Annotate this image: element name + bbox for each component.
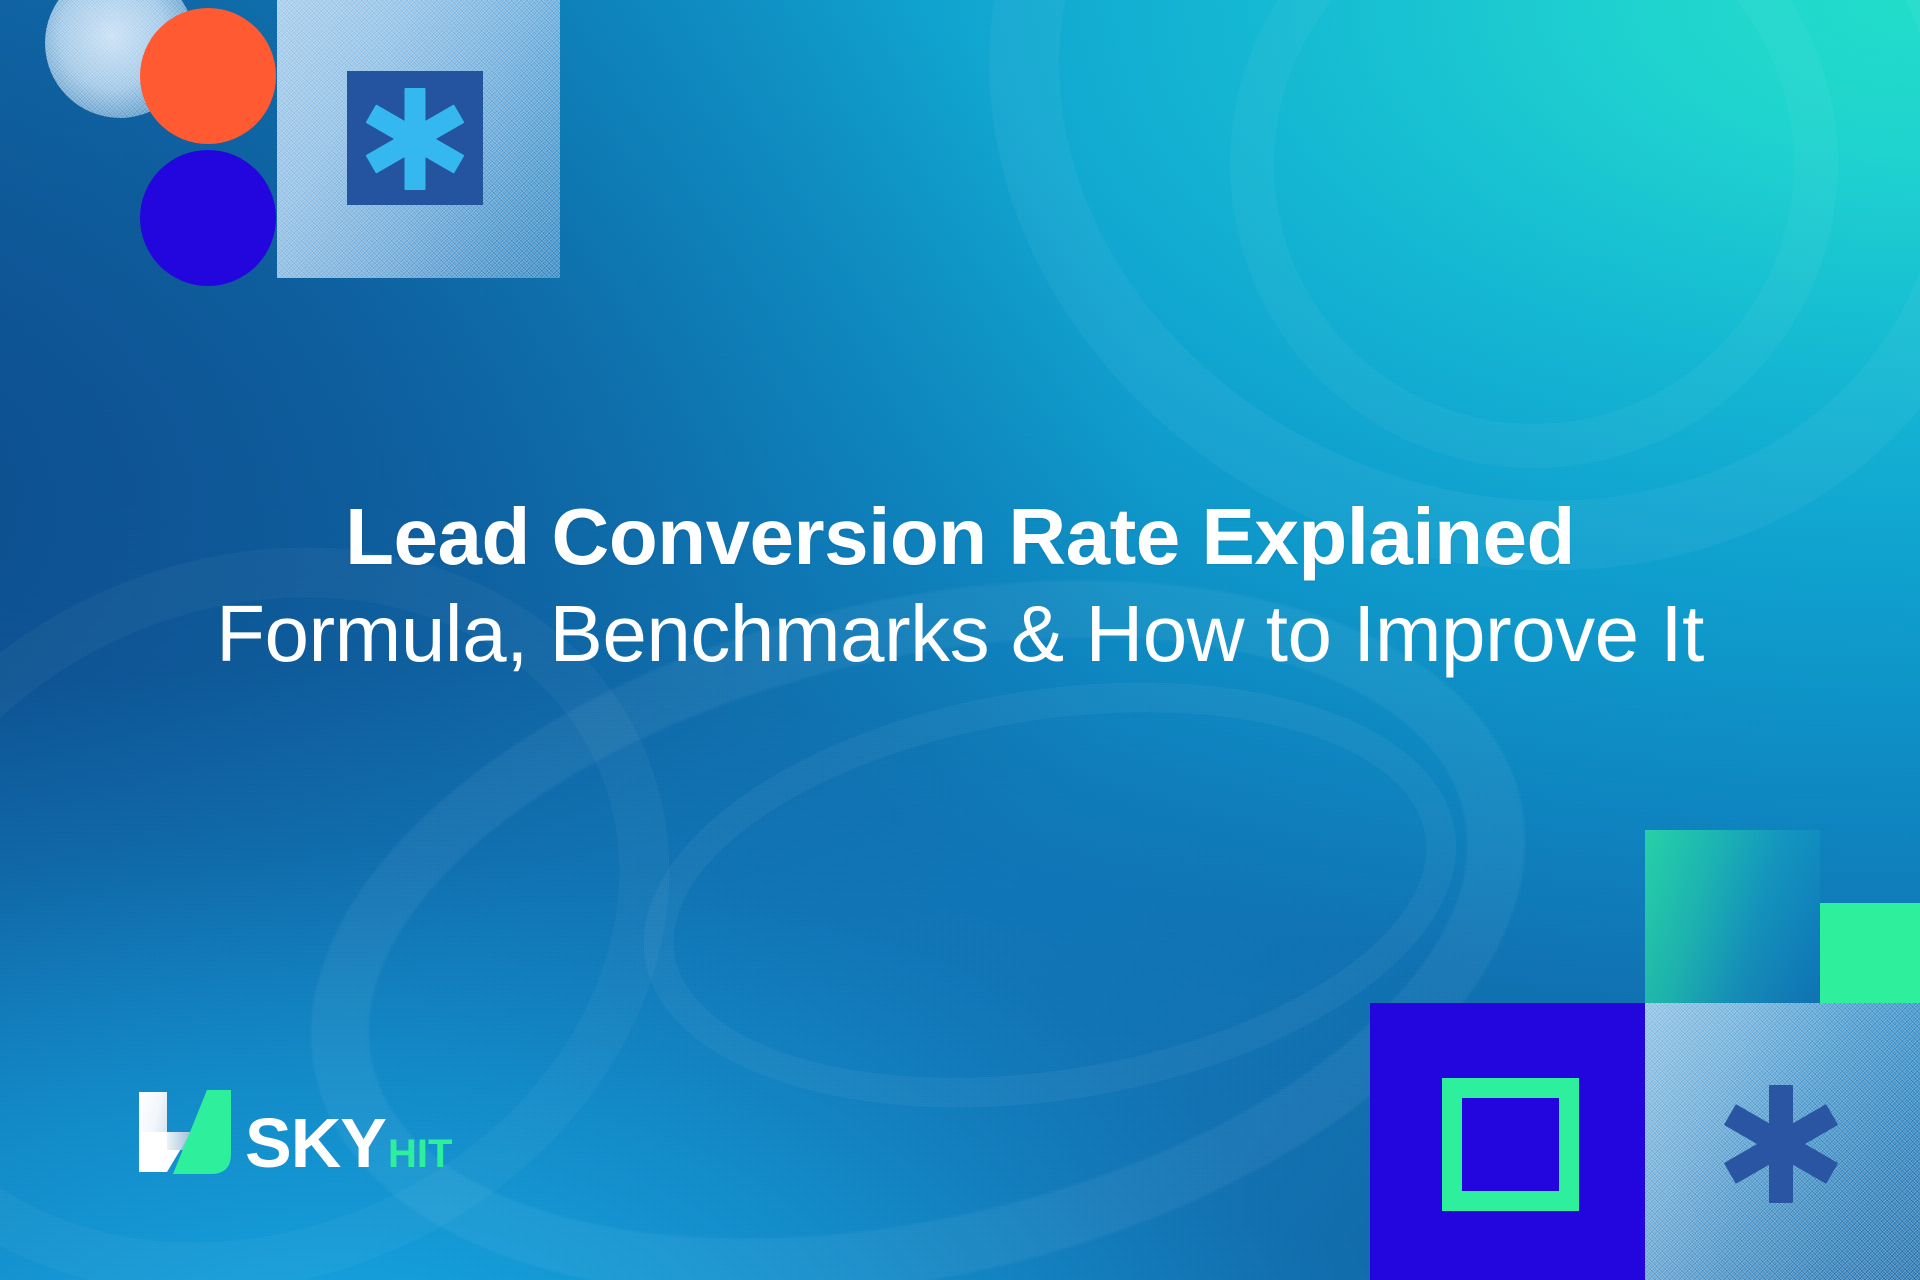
title-line-secondary: Formula, Benchmarks & How to Improve It (0, 590, 1920, 678)
skyhit-monogram-icon (133, 1084, 237, 1180)
brand-logo[interactable]: SKY HIT (133, 1084, 452, 1180)
title-line-primary: Lead Conversion Rate Explained (0, 494, 1920, 580)
indigo-circle-icon (140, 150, 276, 286)
orange-circle-icon (140, 8, 276, 144)
brand-wordmark: SKY HIT (245, 1108, 452, 1180)
asterisk-icon (1722, 1085, 1840, 1203)
page-title: Lead Conversion Rate Explained Formula, … (0, 494, 1920, 678)
asterisk-icon (364, 88, 466, 190)
brand-name-secondary: HIT (388, 1134, 452, 1174)
green-outline-square-icon (1442, 1078, 1579, 1211)
banner-canvas: Lead Conversion Rate Explained Formula, … (0, 0, 1920, 1280)
green-grain-square-icon (1645, 830, 1820, 1003)
brand-name-primary: SKY (245, 1108, 386, 1178)
green-solid-square-icon (1820, 903, 1920, 1003)
